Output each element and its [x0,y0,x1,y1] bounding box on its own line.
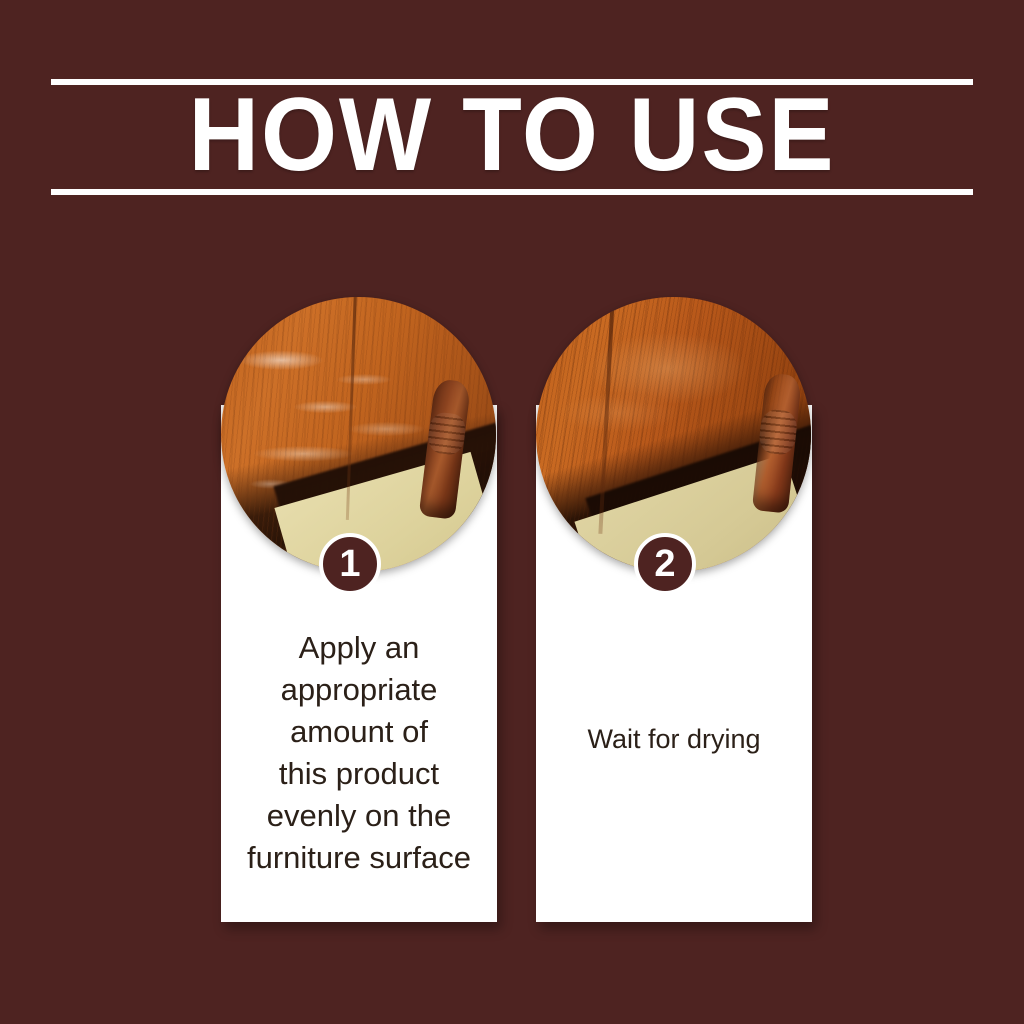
step-1-number-badge: 1 [319,533,381,595]
step-2-instruction-text: Wait for drying [550,720,798,758]
step-2-photo-wood-texture [536,297,811,572]
poster-canvas: HOW TO USE Apply an appropriate amount o… [0,0,1024,1024]
step-card-2: Wait for drying 2 [536,297,812,922]
step-2-photo [536,297,811,572]
step-card-1: Apply an appropriate amount of this prod… [221,297,497,922]
steps-container: Apply an appropriate amount of this prod… [0,0,1024,1024]
step-1-photo [221,297,496,572]
step-1-photo-wood-texture [221,297,496,572]
step-2-number-badge: 2 [634,533,696,595]
step-1-instruction-text: Apply an appropriate amount of this prod… [235,627,483,879]
